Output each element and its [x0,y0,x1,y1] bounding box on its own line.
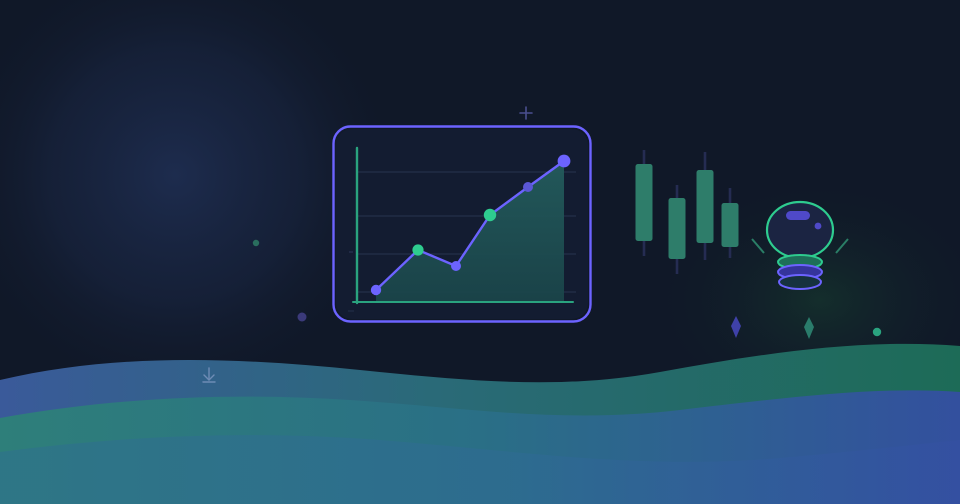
dot-violet-left [298,313,307,322]
illustration-canvas [0,0,960,504]
illustration-scene: Analytics growth illustration Growth tre… [0,0,960,504]
dot-teal-left [253,240,259,246]
data-point[interactable] [451,261,461,271]
lightbulb-sparkle-dot [815,223,822,230]
lightbulb-base-ring [779,275,821,289]
data-point[interactable] [371,285,381,295]
dot-teal-right [873,328,881,336]
tablet-device[interactable] [334,127,591,322]
candlestick-body [636,164,653,241]
candlestick-body [722,203,739,247]
candlestick-item[interactable] [636,150,653,256]
candlestick-body [669,198,686,259]
lightbulb-highlight [786,211,810,220]
data-point[interactable] [558,155,571,168]
candlestick-body [697,170,714,243]
lightbulb-glass [767,202,833,258]
data-point[interactable] [412,244,423,255]
data-point[interactable] [484,209,496,221]
data-point[interactable] [523,182,533,192]
